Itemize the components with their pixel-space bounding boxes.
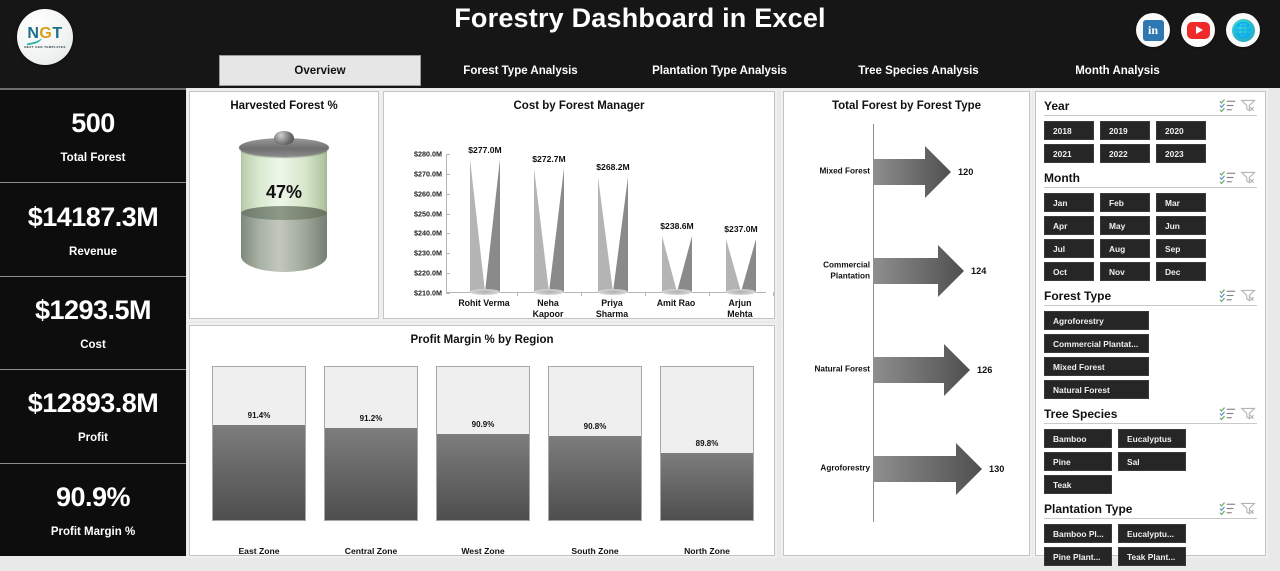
slicer-item-2021[interactable]: 2021 [1044, 144, 1094, 163]
margin-bar-fill [325, 428, 417, 520]
cost-bar-amit-rao: $238.6M [645, 154, 709, 292]
margin-x-label: North Zone [660, 546, 754, 556]
cost-data-label: $238.6M [660, 221, 693, 231]
cost-x-tickmark [581, 292, 582, 296]
cone-base-shadow [534, 289, 564, 295]
margin-bar-fill [661, 453, 753, 520]
panel-cost-by-manager: Cost by Forest Manager $210.0M$220.0M$23… [383, 91, 775, 319]
cost-x-tickmark [709, 292, 710, 296]
slicer-item-bamboo-pl[interactable]: Bamboo Pl... [1044, 524, 1112, 543]
cone-base-shadow [726, 289, 756, 295]
panel-profit-margin-by-region: Profit Margin % by Region 91.4%East Zone… [189, 325, 775, 556]
margin-bar-track: 90.8% [548, 366, 642, 521]
slicer-item-jul[interactable]: Jul [1044, 239, 1094, 258]
margin-chart-area: 91.4%East Zone91.2%Central Zone90.9%West… [190, 346, 774, 551]
cone-left-face [662, 236, 677, 292]
clear-filter-icon[interactable] [1240, 501, 1257, 516]
harvested-forest-title: Harvested Forest % [190, 92, 378, 112]
kpi-card-profit-margin: 90.9%Profit Margin % [0, 464, 186, 556]
margin-x-label: Central Zone [324, 546, 418, 556]
tab-overview[interactable]: Overview [219, 55, 421, 86]
forest-type-arrow-bar [874, 146, 951, 198]
multi-select-icon[interactable] [1219, 98, 1236, 113]
slicer-item-2023[interactable]: 2023 [1156, 144, 1206, 163]
forest-type-data-label: 130 [989, 464, 1004, 474]
kpi-card-total-forest: 500Total Forest [0, 90, 186, 183]
cost-y-tickmark [446, 214, 450, 215]
cone-shape [726, 238, 756, 292]
margin-data-label: 91.4% [213, 411, 305, 420]
tab-tree-species-analysis[interactable]: Tree Species Analysis [819, 55, 1018, 86]
slicer-item-mixed-forest[interactable]: Mixed Forest [1044, 357, 1149, 376]
page-title: Forestry Dashboard in Excel [0, 3, 1280, 34]
cylinder-gauge: 47% [241, 134, 327, 276]
slicer-item-agroforestry[interactable]: Agroforestry [1044, 311, 1149, 330]
cost-y-tickmark [446, 154, 450, 155]
slicer-item-commercial-plantat[interactable]: Commercial Plantat... [1044, 334, 1149, 353]
cost-y-tick: $220.0M [414, 269, 442, 278]
cone-right-face [613, 177, 628, 292]
nav-tabs: OverviewForest Type AnalysisPlantation T… [219, 55, 1217, 86]
arrow-shape [874, 344, 970, 396]
kpi-label: Total Forest [61, 152, 126, 164]
forest-type-category-label: Mixed Forest [788, 167, 870, 178]
slicer-item-feb[interactable]: Feb [1100, 193, 1150, 212]
slicer-item-sep[interactable]: Sep [1156, 239, 1206, 258]
cylinder-knob-icon [274, 131, 294, 145]
slicer-item-pine-plant[interactable]: Pine Plant... [1044, 547, 1112, 566]
cost-y-tickmark [446, 273, 450, 274]
cost-x-label: ArjunMehta [708, 298, 772, 320]
kpi-column: 500Total Forest$14187.3MRevenue$1293.5MC… [0, 88, 186, 556]
slicer-item-jun[interactable]: Jun [1156, 216, 1206, 235]
slicer-forest-type: Forest TypeAgroforestryCommercial Planta… [1044, 288, 1257, 399]
slicer-title: Month [1044, 171, 1215, 185]
cost-chart-title: Cost by Forest Manager [384, 92, 774, 112]
cost-y-tick: $260.0M [414, 189, 442, 198]
cost-y-tick: $250.0M [414, 209, 442, 218]
margin-bar-west-zone: 90.9%West Zone [436, 366, 530, 521]
slicer-item-apr[interactable]: Apr [1044, 216, 1094, 235]
cost-y-tick: $270.0M [414, 169, 442, 178]
kpi-label: Profit [78, 432, 108, 444]
margin-data-label: 90.9% [437, 420, 529, 429]
margin-bar-track: 90.9% [436, 366, 530, 521]
margin-bar-north-zone: 89.8%North Zone [660, 366, 754, 521]
slicer-title: Year [1044, 99, 1215, 113]
kpi-card-profit: $12893.8MProfit [0, 370, 186, 463]
slicer-item-bamboo[interactable]: Bamboo [1044, 429, 1112, 448]
multi-select-icon[interactable] [1219, 170, 1236, 185]
multi-select-icon[interactable] [1219, 406, 1236, 421]
slicer-title: Forest Type [1044, 289, 1215, 303]
youtube-button[interactable] [1181, 13, 1215, 47]
cone-left-face [598, 177, 613, 292]
slicer-item-2022[interactable]: 2022 [1100, 144, 1150, 163]
cost-data-label: $237.0M [724, 224, 757, 234]
panel-harvested-forest: Harvested Forest % 47% [189, 91, 379, 319]
cost-y-tickmark [446, 194, 450, 195]
slicer-title: Tree Species [1044, 407, 1215, 421]
forest-type-data-label: 120 [958, 167, 973, 177]
margin-bar-track: 91.4% [212, 366, 306, 521]
kpi-value: 500 [71, 108, 115, 139]
clear-filter-icon[interactable] [1240, 98, 1257, 113]
slicer-header: Month [1044, 170, 1257, 188]
cone-right-face [485, 159, 500, 292]
slicer-chip-list: BambooEucalyptusPineSalTeak [1044, 429, 1257, 494]
cone-right-face [741, 239, 756, 292]
slicer-header: Year [1044, 98, 1257, 116]
slicer-chip-list: AgroforestryCommercial Plantat...Mixed F… [1044, 311, 1257, 399]
dashboard-root: NGT NEXT GEN TEMPLATES Forestry Dashboar… [0, 0, 1280, 571]
kpi-label: Profit Margin % [51, 526, 135, 538]
margin-bar-track: 89.8% [660, 366, 754, 521]
cost-data-label: $272.7M [532, 154, 565, 164]
slicer-item-2018[interactable]: 2018 [1044, 121, 1094, 140]
slicer-chip-list: JanFebMarAprMayJunJulAugSepOctNovDec [1044, 193, 1257, 281]
cost-x-tickmark [517, 292, 518, 296]
cost-data-label: $277.0M [468, 145, 501, 155]
forest-type-data-label: 124 [971, 266, 986, 276]
cost-y-axis: $210.0M$220.0M$230.0M$240.0M$250.0M$260.… [390, 154, 442, 293]
tab-label: Forest Type Analysis [463, 65, 577, 77]
slicer-item-pine[interactable]: Pine [1044, 452, 1112, 471]
kpi-card-cost: $1293.5MCost [0, 277, 186, 370]
arrow-shape [874, 245, 964, 297]
kpi-value: $12893.8M [28, 388, 159, 419]
cost-y-tick: $210.0M [414, 289, 442, 298]
forest-type-category-label: Agroforestry [788, 464, 870, 475]
globe-icon: 🌐 [1232, 19, 1255, 42]
slicer-item-eucalyptu[interactable]: Eucalyptu... [1118, 524, 1186, 543]
kpi-value: 90.9% [56, 482, 130, 513]
slicer-tree-species: Tree SpeciesBambooEucalyptusPineSalTeak [1044, 406, 1257, 494]
cost-plot-area: $277.0M$272.7M$268.2M$238.6M$237.0M [446, 154, 766, 293]
cone-left-face [470, 159, 485, 292]
margin-data-label: 89.8% [661, 439, 753, 448]
cylinder-fill [241, 213, 327, 272]
cost-bar-arjun-mehta: $237.0M [709, 154, 773, 292]
slicer-year: Year201820192020202120222023 [1044, 98, 1257, 163]
kpi-value: $1293.5M [35, 295, 151, 326]
arrow-shape [874, 443, 982, 495]
cost-x-tickmark [645, 292, 646, 296]
logo-subtitle: NEXT GEN TEMPLATES [24, 45, 65, 49]
margin-bar-fill [437, 434, 529, 520]
linkedin-button[interactable]: in [1136, 13, 1170, 47]
margin-x-label: West Zone [436, 546, 530, 556]
slicer-item-dec[interactable]: Dec [1156, 262, 1206, 281]
cost-y-tick: $230.0M [414, 249, 442, 258]
multi-select-icon[interactable] [1219, 288, 1236, 303]
clear-filter-icon[interactable] [1240, 406, 1257, 421]
kpi-label: Revenue [69, 246, 117, 258]
forest-type-row-agroforestry: Agroforestry130 [784, 421, 1029, 517]
slicer-item-aug[interactable]: Aug [1100, 239, 1150, 258]
clear-filter-icon[interactable] [1240, 288, 1257, 303]
harvested-forest-gauge: 47% [190, 112, 378, 298]
forest-type-arrow-bar [874, 245, 964, 297]
slicer-list: Year201820192020202120222023MonthJanFebM… [1036, 92, 1265, 566]
slicer-item-teak[interactable]: Teak [1044, 475, 1112, 494]
forest-type-chart-area: Mixed Forest120CommercialPlantation124Na… [784, 112, 1029, 542]
forest-type-arrow-bar [874, 443, 982, 495]
cost-bar-rohit-verma: $277.0M [453, 154, 517, 292]
cone-right-face [549, 168, 564, 292]
arrow-shape [874, 146, 951, 198]
cost-bar-priya-sharma: $268.2M [581, 154, 645, 292]
cylinder-body [241, 146, 327, 272]
forest-type-row-mixed-forest: Mixed Forest120 [784, 124, 1029, 220]
slicer-plantation-type: Plantation TypeBamboo Pl...Eucalyptu...P… [1044, 501, 1257, 566]
cone-shape [598, 176, 628, 292]
slicer-item-mar[interactable]: Mar [1156, 193, 1206, 212]
cost-y-tickmark [446, 174, 450, 175]
cone-base-shadow [662, 289, 692, 295]
kpi-label: Cost [80, 339, 106, 351]
slicer-item-nov[interactable]: Nov [1100, 262, 1150, 281]
social-links: in 🌐 [1136, 13, 1260, 47]
tab-forest-type-analysis[interactable]: Forest Type Analysis [421, 55, 620, 86]
slicer-chip-list: Bamboo Pl...Eucalyptu...Pine Plant...Tea… [1044, 524, 1257, 566]
margin-data-label: 90.8% [549, 422, 641, 431]
cost-x-label: Amit Rao [644, 298, 708, 309]
youtube-icon [1187, 22, 1210, 39]
slicer-item-sal[interactable]: Sal [1118, 452, 1186, 471]
slicer-header: Forest Type [1044, 288, 1257, 306]
kpi-value: $14187.3M [28, 202, 159, 233]
website-button[interactable]: 🌐 [1226, 13, 1260, 47]
multi-select-icon[interactable] [1219, 501, 1236, 516]
cost-x-label: NehaKapoor [516, 298, 580, 320]
margin-bar-central-zone: 91.2%Central Zone [324, 366, 418, 521]
forest-type-category-label: CommercialPlantation [788, 260, 870, 281]
linkedin-icon: in [1143, 20, 1164, 41]
tab-label: Month Analysis [1075, 65, 1160, 77]
gauge-value-label: 47% [241, 182, 327, 203]
forest-type-chart-title: Total Forest by Forest Type [784, 92, 1029, 112]
slicer-item-teak-plant[interactable]: Teak Plant... [1118, 547, 1186, 566]
tab-month-analysis[interactable]: Month Analysis [1018, 55, 1217, 86]
cost-data-label: $268.2M [596, 162, 629, 172]
cone-base-shadow [470, 289, 500, 295]
cone-right-face [677, 236, 692, 292]
slicer-item-eucalyptus[interactable]: Eucalyptus [1118, 429, 1186, 448]
slicer-title: Plantation Type [1044, 502, 1215, 516]
cone-shape [662, 235, 692, 292]
cone-left-face [534, 168, 549, 292]
tab-plantation-type-analysis[interactable]: Plantation Type Analysis [620, 55, 819, 86]
slicer-item-natural-forest[interactable]: Natural Forest [1044, 380, 1149, 399]
slicer-item-2019[interactable]: 2019 [1100, 121, 1150, 140]
cone-shape [470, 159, 500, 292]
cost-y-tickmark [446, 233, 450, 234]
margin-bar-track: 91.2% [324, 366, 418, 521]
slicer-month: MonthJanFebMarAprMayJunJulAugSepOctNovDe… [1044, 170, 1257, 281]
forest-type-row-natural-forest: Natural Forest126 [784, 322, 1029, 418]
cost-bar-neha-kapoor: $272.7M [517, 154, 581, 292]
tab-label: Plantation Type Analysis [652, 65, 787, 77]
margin-data-label: 91.2% [325, 414, 417, 423]
tab-label: Tree Species Analysis [858, 65, 978, 77]
slicer-header: Tree Species [1044, 406, 1257, 424]
margin-bar-fill [213, 425, 305, 520]
margin-bar-fill [549, 436, 641, 520]
slicer-item-oct[interactable]: Oct [1044, 262, 1094, 281]
cost-y-tickmark [446, 253, 450, 254]
forest-type-data-label: 126 [977, 365, 992, 375]
cost-chart-area: $210.0M$220.0M$230.0M$240.0M$250.0M$260.… [384, 112, 774, 317]
clear-filter-icon[interactable] [1240, 170, 1257, 185]
cost-y-tickmark [446, 293, 450, 294]
slicer-panel: Year201820192020202120222023MonthJanFebM… [1035, 91, 1266, 556]
slicer-item-may[interactable]: May [1100, 216, 1150, 235]
kpi-card-revenue: $14187.3MRevenue [0, 183, 186, 276]
slicer-item-jan[interactable]: Jan [1044, 193, 1094, 212]
forest-type-category-label: Natural Forest [788, 365, 870, 376]
cone-left-face [726, 239, 741, 292]
cone-base-shadow [598, 289, 628, 295]
cost-x-label: PriyaSharma [580, 298, 644, 320]
margin-x-label: South Zone [548, 546, 642, 556]
panel-total-forest-by-type: Total Forest by Forest Type Mixed Forest… [783, 91, 1030, 556]
cost-y-tick: $240.0M [414, 229, 442, 238]
margin-x-label: East Zone [212, 546, 306, 556]
forest-type-row-commercial-plantation: CommercialPlantation124 [784, 223, 1029, 319]
cost-x-tickmark [773, 292, 774, 296]
cost-x-label: Rohit Verma [452, 298, 516, 309]
tab-label: Overview [294, 65, 345, 77]
margin-bar-south-zone: 90.8%South Zone [548, 366, 642, 521]
slicer-header: Plantation Type [1044, 501, 1257, 519]
slicer-chip-list: 201820192020202120222023 [1044, 121, 1257, 163]
cone-shape [534, 168, 564, 293]
forest-type-arrow-bar [874, 344, 970, 396]
margin-bar-east-zone: 91.4%East Zone [212, 366, 306, 521]
slicer-item-2020[interactable]: 2020 [1156, 121, 1206, 140]
margin-chart-title: Profit Margin % by Region [190, 326, 774, 346]
cost-y-tick: $280.0M [414, 150, 442, 159]
